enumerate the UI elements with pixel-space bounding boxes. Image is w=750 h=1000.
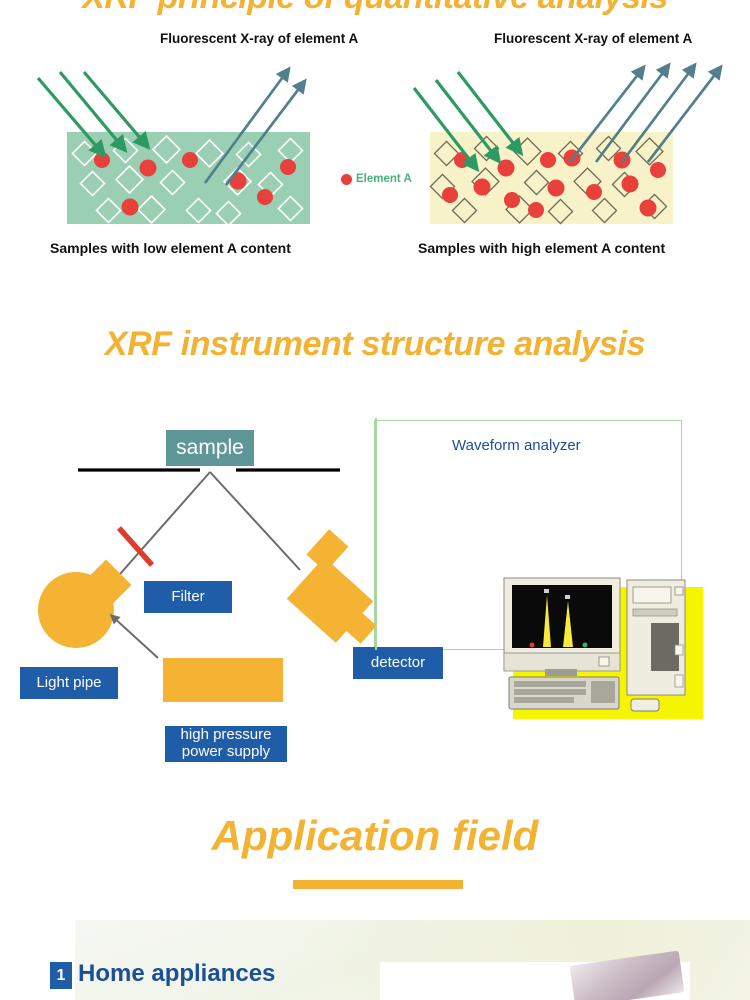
right-sample-diagram	[400, 50, 750, 240]
section-application-title: Application field	[0, 812, 750, 860]
power-supply-label: high pressure power supply	[165, 726, 287, 762]
infographic-page: XRF principle of quantitative analysis F…	[0, 0, 750, 1000]
filter-label: Filter	[144, 581, 232, 613]
monitor-screen	[512, 585, 612, 648]
monitor-stand	[545, 669, 577, 676]
right-sample-slab	[430, 132, 673, 224]
left-xray-label: Fluorescent X-ray of element A	[160, 31, 358, 46]
right-xray-label: Fluorescent X-ray of element A	[494, 31, 692, 46]
application-item-label: Home appliances	[78, 960, 275, 988]
application-item-number: 1	[50, 962, 72, 989]
analyzer-cable	[370, 418, 382, 658]
tower-floppy-slot	[633, 609, 677, 616]
legend-element-a: Element A	[341, 173, 412, 185]
keyboard-keys	[514, 681, 615, 703]
tower-drive-bay	[633, 587, 671, 603]
right-sample-caption: Samples with high element A content	[418, 240, 665, 256]
tower-button-b	[675, 675, 683, 687]
monitor-power-button	[599, 657, 609, 666]
tower-indicator	[675, 587, 683, 595]
instrument-schematic	[0, 430, 470, 760]
light-pipe-label: Light pipe	[20, 667, 118, 699]
computer-illustration	[495, 565, 730, 740]
sample-label: sample	[166, 430, 254, 466]
fluorescence-beam-path	[210, 472, 300, 570]
detector-label: detector	[353, 647, 443, 679]
left-sample-caption: Samples with low element A content	[50, 240, 291, 256]
power-supply-shape	[163, 658, 283, 702]
tower-button-a	[675, 645, 683, 655]
power-supply-arrow	[112, 616, 158, 658]
filter-bar-icon	[119, 528, 152, 565]
legend-element-a-label: Element A	[356, 173, 412, 185]
application-title-underline	[293, 880, 463, 889]
section-principle-title: XRF principle of quantitative analysis	[0, 0, 750, 17]
light-pipe-bulb-shape	[38, 572, 114, 648]
mouse	[631, 699, 659, 711]
waveform-analyzer-label: Waveform analyzer	[452, 437, 581, 454]
detector-assembly-shape	[276, 529, 404, 655]
element-a-dot-icon	[341, 174, 352, 185]
left-sample-diagram	[0, 50, 340, 240]
left-sample-slab	[67, 132, 310, 224]
section-structure-title: XRF instrument structure analysis	[0, 325, 750, 364]
